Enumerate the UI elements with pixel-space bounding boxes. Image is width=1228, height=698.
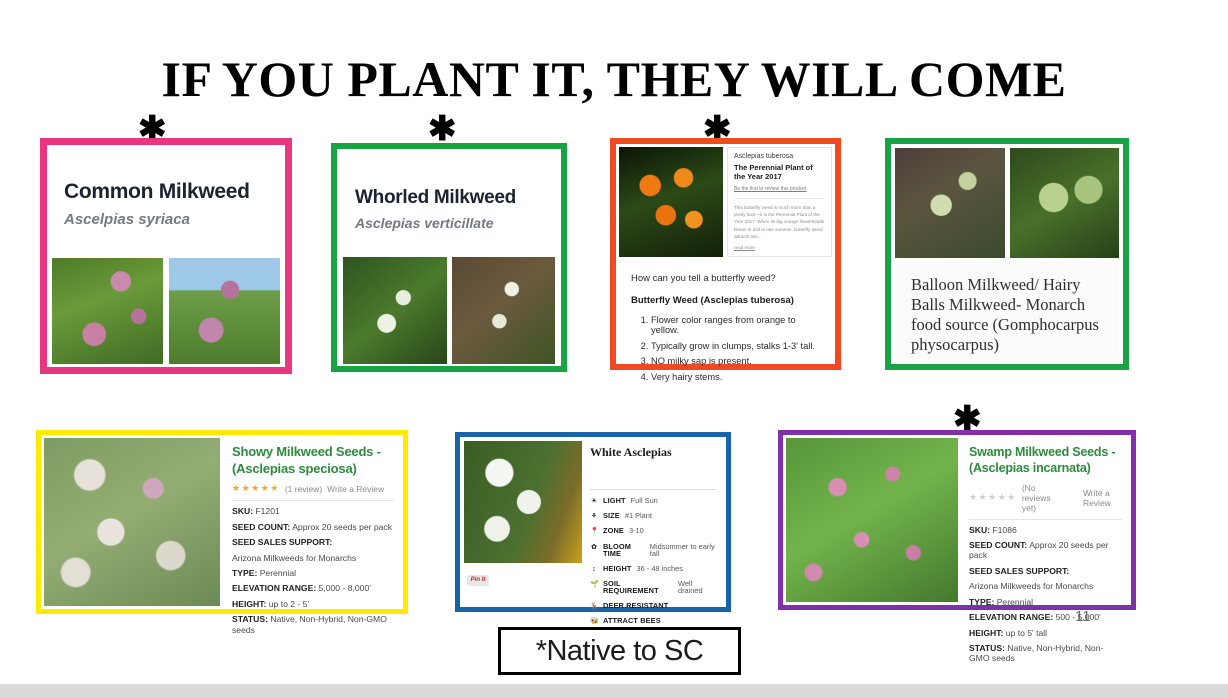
common-milkweed-latin: Ascelpias syriaca [64,211,280,228]
balloon-milkweed-photo-left [895,148,1005,258]
attribute-label: SOIL REQUIREMENT [603,580,673,595]
attribute-row: ✿ BLOOM TIME Midsummer to early fall [590,543,716,558]
balloon-milkweed-pods-photo-right [1010,148,1120,258]
showy-milkweed-photo [44,438,220,606]
list-item: Typically grow in clumps, stalks 1-3' ta… [651,341,822,351]
attribute-row: ⚘ SIZE #1 Plant [590,512,716,520]
butterfly-weed-heading: Butterfly Weed (Asclepias tuberosa) [631,295,822,306]
spec-value: Arizona Milkweeds for Monarchs [232,553,394,563]
spec-value: Approx 20 seeds per pack [292,522,392,532]
spec-label: SKU: [969,525,990,535]
spec-value: 5,000 - 8,000' [319,583,371,593]
native-legend-text: *Native to SC [536,635,704,668]
spec-row: HEIGHT: up to 2 - 5' [232,599,394,609]
common-milkweed-name: Common Milkweed [64,180,280,204]
butterfly-weed-orange-flowers-photo [619,147,723,257]
attribute-label: LIGHT [603,497,626,504]
spec-row: HEIGHT: up to 5' tall [969,628,1122,638]
butterfly-weed-facts-panel: How can you tell a butterfly weed? Butte… [619,261,832,361]
spec-label: TYPE: [969,597,994,607]
whorled-milkweed-photos [343,257,555,364]
spec-label: SEED COUNT: [232,522,290,532]
spec-row: SEED SALES SUPPORT: [969,566,1122,576]
attribute-value: Full Sun [631,497,658,504]
divider [590,489,716,490]
card-common-milkweed: Common Milkweed Ascelpias syriaca [40,138,292,374]
common-milkweed-header: Common Milkweed Ascelpias syriaca [52,150,280,253]
slide-canvas: IF YOU PLANT IT, THEY WILL COME ✱ ✱ ✱ ✱ … [0,0,1228,684]
swamp-write-review-link[interactable]: Write a Review [1083,488,1122,508]
attribute-label: BLOOM TIME [603,543,645,558]
butterfly-weed-listing: Asclepias tuberosa The Perennial Plant o… [727,147,832,257]
ruler-icon: ↕ [590,566,598,573]
list-item: Very hairy stems. [651,372,822,382]
attribute-row: 🐝 ATTRACT BEES [590,617,716,625]
divider [232,500,394,501]
slide-footer-bar [0,684,1228,698]
spec-label: STATUS: [232,614,268,624]
showy-milkweed-info: Showy Milkweed Seeds - (Asclepias specio… [226,438,400,606]
whorled-milkweed-header: Whorled Milkweed Asclepias verticillate [341,153,557,253]
spec-row: SEED COUNT: Approx 20 seeds per pack [232,522,394,532]
spec-value: F1086 [992,525,1016,535]
spec-label: SEED SALES SUPPORT: [232,537,332,547]
attribute-value: #1 Plant [625,512,652,519]
spec-label: ELEVATION RANGE: [969,612,1053,622]
card-balloon-milkweed: Balloon Milkweed/ Hairy Balls Milkweed- … [885,138,1129,370]
spec-value: Perennial [260,568,296,578]
butterfly-weed-question: How can you tell a butterfly weed? [631,273,822,284]
flower-icon: ✿ [590,544,598,551]
attribute-row: ☀ LIGHT Full Sun [590,497,716,505]
spec-value: up to 2 - 5' [269,599,309,609]
spec-label: ELEVATION RANGE: [232,583,316,593]
page-title: IF YOU PLANT IT, THEY WILL COME [0,50,1228,108]
spec-row: SEED SALES SUPPORT: [232,537,394,547]
listing-review-link[interactable]: Be the first to review this product [734,186,825,192]
spec-label: SEED SALES SUPPORT: [969,566,1069,576]
attribute-label: ZONE [603,527,624,534]
common-milkweed-photos [52,258,280,364]
star-rating-icon: ★★★★★ [969,492,1017,503]
whorled-milkweed-name: Whorled Milkweed [355,187,557,209]
attribute-value: 3-10 [629,527,644,534]
listing-species: Asclepias tuberosa [734,153,825,160]
swamp-milkweed-review-line: ★★★★★ (No reviews yet) Write a Review [969,483,1122,513]
list-item: Flower color ranges from orange to yello… [651,315,822,335]
swamp-milkweed-photo [786,438,958,602]
showy-milkweed-title: Showy Milkweed Seeds - (Asclepias specio… [232,444,394,477]
pinterest-save-button[interactable]: Pin it [467,575,489,586]
divider [969,519,1122,520]
spec-label: HEIGHT: [969,628,1003,638]
showy-write-review-link[interactable]: Write a Review [327,484,384,494]
spec-label: STATUS: [969,643,1005,653]
white-asclepias-info: White Asclepias ☀ LIGHT Full Sun ⚘ SIZE … [588,441,722,603]
whorled-milkweed-photo-right [452,257,556,364]
attribute-value: Midsummer to early fall [650,543,716,558]
list-item: NO milky sap is present. [651,356,822,366]
attribute-label: ATTRACT BEES [603,617,661,624]
showy-review-count: (1 review) [285,484,322,494]
pin-icon: 📍 [590,528,598,535]
page-number: 11 [1075,608,1091,625]
spec-row: TYPE: Perennial [969,597,1122,607]
card-butterfly-weed: Asclepias tuberosa The Perennial Plant o… [610,138,841,370]
spec-value: F1201 [255,506,279,516]
attribute-label: HEIGHT [603,565,632,572]
card-whorled-milkweed: Whorled Milkweed Asclepias verticillate [331,143,567,372]
card-white-asclepias: Pin it White Asclepias ☀ LIGHT Full Sun … [455,432,731,612]
spec-row: STATUS: Native, Non-Hybrid, Non-GMO seed… [969,643,1122,664]
native-marker-whorled: ✱ [428,112,457,146]
spec-value: up to 5' tall [1006,628,1047,638]
spec-row: ELEVATION RANGE: 5,000 - 8,000' [232,583,394,593]
balloon-milkweed-photos [895,148,1119,258]
attribute-label: DEER RESISTANT [603,602,668,609]
listing-body: This butterfly weed is much more than a … [734,198,825,241]
listing-read-more-link[interactable]: read more [734,245,825,250]
common-milkweed-sky-photo [169,258,280,364]
soil-icon: 🌱 [590,581,598,588]
sun-icon: ☀ [590,498,598,505]
spec-value: Arizona Milkweeds for Monarchs [969,581,1122,591]
white-asclepias-title: White Asclepias [590,445,716,460]
balloon-milkweed-caption: Balloon Milkweed/ Hairy Balls Milkweed- … [895,262,1119,362]
bee-icon: 🐝 [590,618,598,625]
attribute-value: Well drained [678,580,716,595]
size-icon: ⚘ [590,513,598,520]
native-legend-box: *Native to SC [498,627,741,675]
swamp-review-count: (No reviews yet) [1022,483,1064,513]
butterfly-weed-fact-list: Flower color ranges from orange to yello… [631,315,822,382]
spec-row: TYPE: Perennial [232,568,394,578]
attribute-row: 🌱 SOIL REQUIREMENT Well drained [590,580,716,595]
spec-row: STATUS: Native, Non-Hybrid, Non-GMO seed… [232,614,394,635]
swamp-milkweed-info: Swamp Milkweed Seeds - (Asclepias incarn… [963,438,1128,602]
spec-label: SKU: [232,506,253,516]
attribute-label: SIZE [603,512,620,519]
swamp-milkweed-title: Swamp Milkweed Seeds - (Asclepias incarn… [969,444,1122,477]
showy-milkweed-review-line: ★★★★★ (1 review) Write a Review [232,483,394,494]
star-rating-icon: ★★★★★ [232,483,280,494]
attribute-row: 📍 ZONE 3-10 [590,527,716,535]
spec-value: Perennial [997,597,1033,607]
listing-headline: The Perennial Plant of the Year 2017 [734,163,825,182]
whorled-milkweed-photo-left [343,257,447,364]
whorled-milkweed-latin: Asclepias verticillate [355,215,557,231]
common-milkweed-field-photo [52,258,163,364]
butterfly-weed-top: Asclepias tuberosa The Perennial Plant o… [619,147,832,257]
spec-label: TYPE: [232,568,257,578]
spec-label: HEIGHT: [232,599,266,609]
spec-row: SEED COUNT: Approx 20 seeds per pack [969,540,1122,561]
listing-bottom-label: Beeeeo! [734,256,825,257]
attribute-value: 36 - 48 inches [637,565,683,572]
deer-icon: 🦌 [590,603,598,610]
attribute-row: ↕ HEIGHT 36 - 48 inches [590,565,716,573]
spec-row: SKU: F1086 [969,525,1122,535]
attribute-row: 🦌 DEER RESISTANT [590,602,716,610]
card-swamp-milkweed-seeds: Swamp Milkweed Seeds - (Asclepias incarn… [778,430,1136,610]
white-asclepias-photo [464,441,582,563]
spec-row: SKU: F1201 [232,506,394,516]
card-showy-milkweed-seeds: Showy Milkweed Seeds - (Asclepias specio… [36,430,408,614]
spec-label: SEED COUNT: [969,540,1027,550]
spec-row: ELEVATION RANGE: 500 - 5,000' [969,612,1122,622]
